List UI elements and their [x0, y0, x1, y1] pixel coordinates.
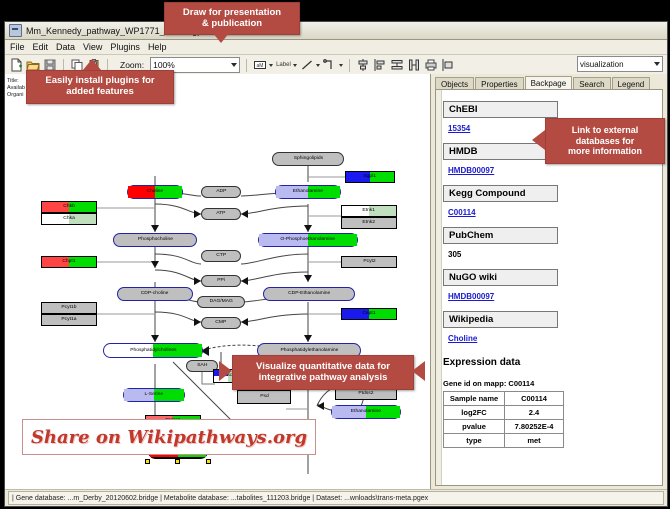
db-link-wikipedia[interactable]: Choline [448, 334, 477, 343]
expr-key: type [444, 434, 505, 448]
node-pcyt2[interactable]: Pcyt2 [341, 256, 397, 268]
node-label: Cept1 [362, 312, 375, 317]
node-label: SAH [197, 364, 207, 369]
pathway-info-labels: Title: Availab Organi [7, 78, 25, 99]
expr-key: pvalue [444, 420, 505, 434]
align-center-icon[interactable] [356, 58, 370, 72]
db-name: Kegg Compound [449, 188, 526, 199]
tab-label: Search [579, 80, 604, 89]
expression-table: Sample name C00114 log2FC 2.4 pvalue 7.8… [443, 391, 564, 448]
node-cmp[interactable]: CMP [201, 317, 241, 329]
callout-share: Share on Wikipathways.org [22, 419, 316, 455]
node-label: ATP [216, 212, 225, 217]
node-label: L-Serine [145, 393, 164, 398]
visualization-combo[interactable]: visualization [577, 56, 663, 72]
callout-visualize-arrow-right-icon [412, 361, 425, 381]
callout-text: Link to external databases for more info… [568, 125, 642, 156]
db-link-kegg-compound[interactable]: C00114 [448, 208, 476, 217]
chevron-down-icon [231, 63, 237, 67]
distribute-icon[interactable] [390, 58, 404, 72]
resize-handle-s[interactable] [175, 459, 180, 464]
node-label: Phosphatidylethanolamine [280, 348, 338, 353]
node-phosphatidylcholines[interactable]: Phosphatidylcholines [103, 343, 203, 358]
db-link-hmdb[interactable]: HMDB00097 [448, 166, 494, 175]
db-header-wikipedia: Wikipedia [443, 311, 558, 328]
svg-text:aM: aM [257, 63, 264, 69]
node-label: Sgpl1 [364, 175, 377, 180]
toolbar-separator [246, 59, 247, 72]
resize-handle-sw[interactable] [145, 459, 150, 464]
node-label: O-Phosphoethanolamine [281, 238, 336, 243]
side-panel-tabs: Objects Properties Backpage Search Legen… [435, 76, 663, 90]
node-label: Sphingolipids [293, 157, 322, 162]
title-bar: Mm_Kennedy_pathway_WP1771_45176.gpml [5, 22, 667, 40]
resize-handle-se[interactable] [206, 459, 211, 464]
node-cdp-ethanolamine[interactable]: CDP-Ethanolamine [263, 287, 355, 301]
chevron-down-icon[interactable] [316, 64, 320, 67]
db-header-nugo-wiki: NuGO wiki [443, 269, 558, 286]
expr-key: log2FC [444, 406, 505, 420]
node-pcyt1b[interactable]: Pcyt1b [41, 302, 97, 314]
status-text: | Gene database: ...m_Derby_20120602.bri… [8, 491, 664, 505]
node-label: CDP-Ethanolamine [288, 292, 330, 297]
node-label: CTP [216, 254, 226, 259]
node-o-phosphoethanolamine[interactable]: O-Phosphoethanolamine [258, 233, 358, 247]
connector-tool[interactable] [323, 58, 343, 72]
label-tool[interactable]: Label [276, 62, 297, 68]
db-name: HMDB [449, 146, 478, 157]
chevron-down-icon[interactable] [293, 64, 297, 67]
menu-item-edit[interactable]: Edit [33, 42, 49, 52]
node-label: PPi [217, 279, 225, 284]
callout-text: Easily install plugins for added feature… [45, 76, 154, 98]
visualization-value: visualization [580, 60, 624, 69]
menu-bar: File Edit Data View Plugins Help [5, 40, 667, 55]
tab-label: Backpage [531, 79, 567, 88]
node-chpt1[interactable]: Chpt1 [41, 256, 97, 268]
new-file-icon[interactable] [9, 58, 23, 72]
node-label: Pcyt2 [363, 260, 375, 265]
expr-value: C00114 [505, 392, 564, 406]
node-label: CMP [216, 321, 227, 326]
node-label: Psd [260, 395, 269, 400]
node-cdp-choline[interactable]: CDP-choline [117, 287, 193, 301]
align-left-icon[interactable] [373, 58, 387, 72]
menu-item-help[interactable]: Help [148, 42, 167, 52]
node-ethanolamine-bottom[interactable]: Ethanolamine [331, 405, 401, 419]
db-name: ChEBI [449, 104, 478, 115]
node-cept1[interactable]: Cept1 [341, 308, 397, 320]
node-label: Choline [147, 190, 164, 195]
expr-value: 2.4 [505, 406, 564, 420]
node-dag-mag[interactable]: DAG/MAG [197, 296, 245, 308]
table-row: log2FC 2.4 [444, 406, 564, 420]
node-label: ADP [216, 190, 226, 195]
expr-value: 7.80252E-4 [505, 420, 564, 434]
table-row: pvalue 7.80252E-4 [444, 420, 564, 434]
node-label: Phosphatidylcholines [130, 348, 176, 353]
zoom-value: 100% [153, 60, 175, 70]
callout-text: Draw for presentation & publication [183, 8, 281, 30]
db-header-kegg-compound: Kegg Compound [443, 185, 558, 202]
table-row: Sample name C00114 [444, 392, 564, 406]
callout-text: Visualize quantitative data for integrat… [256, 362, 390, 384]
node-label: Pcyt1b [61, 306, 76, 311]
node-chka[interactable]: Chka [41, 213, 97, 225]
same-width-icon[interactable] [407, 58, 421, 72]
node-ctp[interactable]: CTP [201, 250, 241, 262]
node-choline-top[interactable]: Choline [127, 185, 183, 199]
node-label: Ptdss2 [358, 392, 373, 397]
db-name: Wikipedia [449, 314, 493, 325]
node-pcyt1a[interactable]: Pcyt1a [41, 314, 97, 326]
line-icon[interactable] [300, 58, 314, 72]
db-value-pubchem: 305 [448, 250, 461, 259]
db-link-chebi[interactable]: 15354 [448, 124, 470, 133]
tab-label: Legend [618, 80, 645, 89]
tab-label: Properties [481, 80, 517, 89]
node-atp[interactable]: ATP [201, 208, 241, 220]
line-tool[interactable] [300, 58, 320, 72]
label-tool-label: Label [276, 62, 291, 68]
chevron-down-icon[interactable] [339, 64, 343, 67]
callout-plugins: Easily install plugins for added feature… [26, 70, 174, 104]
tab-backpage[interactable]: Backpage [525, 76, 573, 90]
table-row: type met [444, 434, 564, 448]
db-link-nugo-wiki[interactable]: HMDB00097 [448, 292, 494, 301]
expr-value: met [505, 434, 564, 448]
tab-label: Objects [441, 80, 468, 89]
node-label: Phosphocholine [137, 238, 172, 243]
node-label: Ethanolamine [351, 410, 381, 415]
node-sphingolipids[interactable]: Sphingolipids [272, 152, 344, 166]
callout-visualize: Visualize quantitative data for integrat… [232, 355, 414, 390]
db-header-pubchem: PubChem [443, 227, 558, 244]
expression-data-heading: Expression data [443, 357, 660, 368]
db-header-chebi: ChEBI [443, 101, 558, 118]
zoom-label: Zoom: [120, 60, 144, 70]
node-label: CDP-choline [141, 292, 169, 297]
node-label: Etnk2 [363, 221, 376, 226]
chevron-down-icon [654, 62, 660, 66]
node-adp[interactable]: ADP [201, 186, 241, 198]
panel-scrollbar[interactable] [436, 90, 442, 485]
status-bar: | Gene database: ...m_Derby_20120602.bri… [5, 489, 667, 506]
node-ethanolamine[interactable]: Ethanolamine [275, 185, 341, 199]
callout-text: Share on Wikipathways.org [31, 427, 307, 448]
node-label: Etnk1 [363, 209, 376, 214]
node-label: Ethanolamine [293, 190, 323, 195]
callout-plugins-arrow-icon [83, 59, 101, 70]
db-name: NuGO wiki [449, 272, 497, 283]
screenshot-root: Mm_Kennedy_pathway_WP1771_45176.gpml Fil… [0, 0, 670, 509]
node-label: Chpt1 [62, 260, 75, 265]
callout-draw: Draw for presentation & publication [164, 2, 300, 35]
callout-links-arrow-icon [532, 130, 545, 150]
app-icon [9, 24, 22, 37]
node-etnk2[interactable]: Etnk2 [341, 217, 397, 229]
node-label: Chkb [63, 205, 75, 210]
toolbar-separator [349, 59, 350, 72]
node-chkb[interactable]: Chkb [41, 201, 97, 213]
menu-item-view[interactable]: View [83, 42, 102, 52]
node-psd[interactable]: Psd [237, 390, 291, 404]
pathway-organism-label: Organi [7, 92, 25, 99]
node-etnk1[interactable]: Etnk1 [341, 205, 397, 217]
node-phosphocholine[interactable]: Phosphocholine [113, 233, 197, 247]
menu-item-data[interactable]: Data [56, 42, 75, 52]
callout-visualize-arrow-icon [219, 361, 232, 381]
node-label: DAG/MAG [209, 300, 232, 305]
db-name: PubChem [449, 230, 493, 241]
menu-item-file[interactable]: File [10, 42, 25, 52]
print-icon[interactable] [424, 58, 438, 72]
node-l-serine-left[interactable]: L-Serine [123, 388, 185, 402]
callout-links: Link to external databases for more info… [545, 118, 665, 164]
gene-id-on-mapp: Gene id on mapp: C00114 [443, 379, 660, 388]
node-label: Pcyt1a [61, 318, 76, 323]
elbow-connector-icon[interactable] [323, 58, 337, 72]
callout-draw-arrow-icon [212, 32, 230, 43]
menu-item-plugins[interactable]: Plugins [110, 42, 140, 52]
datanode-tool[interactable]: aM [253, 58, 273, 72]
datanode-icon[interactable]: aM [253, 58, 267, 72]
node-label: Chka [63, 217, 75, 222]
node-sgpl1[interactable]: Sgpl1 [345, 171, 395, 183]
pathway-availability-label: Availab [7, 85, 25, 92]
expr-key: Sample name [444, 392, 505, 406]
chevron-down-icon[interactable] [269, 64, 273, 67]
order-front-icon[interactable] [441, 58, 455, 72]
pathway-title-label: Title: [7, 78, 25, 85]
node-ppi[interactable]: PPi [201, 275, 241, 287]
